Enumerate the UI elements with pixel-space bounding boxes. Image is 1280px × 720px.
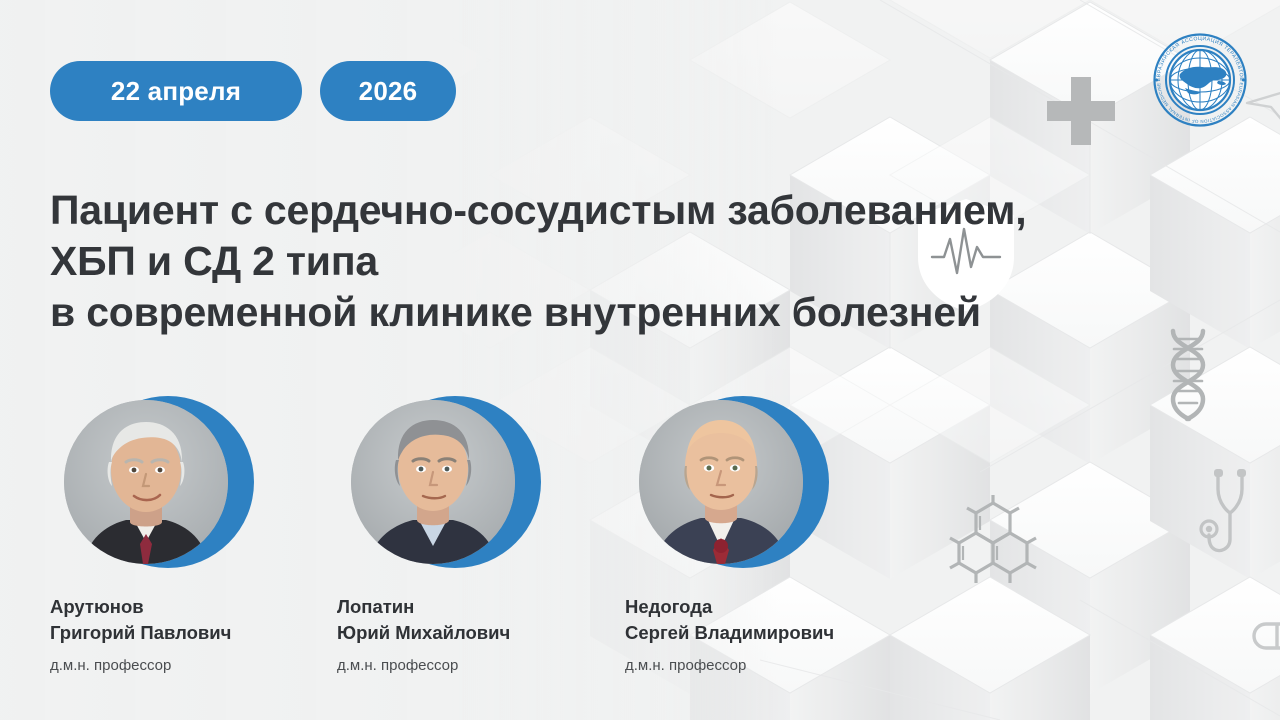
avatar — [639, 400, 803, 564]
speaker-given-name: Юрий Михайлович — [337, 620, 625, 646]
speaker-degree: д.м.н. профессор — [625, 656, 915, 676]
paper-plane-icon — [1245, 85, 1280, 121]
speakers-list: Арутюнов Григорий Павлович д.м.н. профес… — [50, 396, 915, 676]
speaker-card: Недогода Сергей Владимирович д.м.н. проф… — [625, 396, 915, 676]
event-date-pill[interactable]: 22 апреля — [50, 61, 302, 121]
speaker-portrait — [50, 396, 240, 568]
speaker-portrait — [625, 396, 815, 568]
medical-cross-icon — [1043, 75, 1119, 151]
avatar — [64, 400, 228, 564]
molecule-icon — [938, 495, 1048, 595]
speaker-degree: д.м.н. профессор — [337, 656, 625, 676]
dna-helix-icon — [1159, 325, 1217, 425]
speaker-given-name: Сергей Владимирович — [625, 620, 915, 646]
avatar — [351, 400, 515, 564]
speaker-card: Лопатин Юрий Михайлович д.м.н. профессор — [337, 396, 625, 676]
event-banner-slide: ЕВРАЗИЙСКАЯ АССОЦИАЦИЯ ТЕРАПЕВТОВ EURASI… — [0, 0, 1280, 720]
event-title-line-3: в современной клинике внутренних болезне… — [50, 287, 1170, 338]
speaker-degree: д.м.н. профессор — [50, 656, 337, 676]
eurasian-association-logo: ЕВРАЗИЙСКАЯ АССОЦИАЦИЯ ТЕРАПЕВТОВ EURASI… — [1152, 32, 1248, 128]
event-title-line-1: Пациент с сердечно-сосудистым заболевани… — [50, 185, 1170, 236]
event-title: Пациент с сердечно-сосудистым заболевани… — [50, 185, 1170, 338]
speaker-surname: Лопатин — [337, 594, 625, 620]
speaker-portrait — [337, 396, 527, 568]
pill-icon — [1248, 608, 1280, 664]
event-title-line-2: ХБП и СД 2 типа — [50, 236, 1170, 287]
event-date-group: 22 апреля 2026 — [50, 61, 456, 121]
speaker-card: Арутюнов Григорий Павлович д.м.н. профес… — [50, 396, 337, 676]
event-year-pill[interactable]: 2026 — [320, 61, 456, 121]
speaker-surname: Арутюнов — [50, 594, 337, 620]
speaker-given-name: Григорий Павлович — [50, 620, 337, 646]
speaker-surname: Недогода — [625, 594, 915, 620]
stethoscope-icon — [1198, 465, 1262, 569]
